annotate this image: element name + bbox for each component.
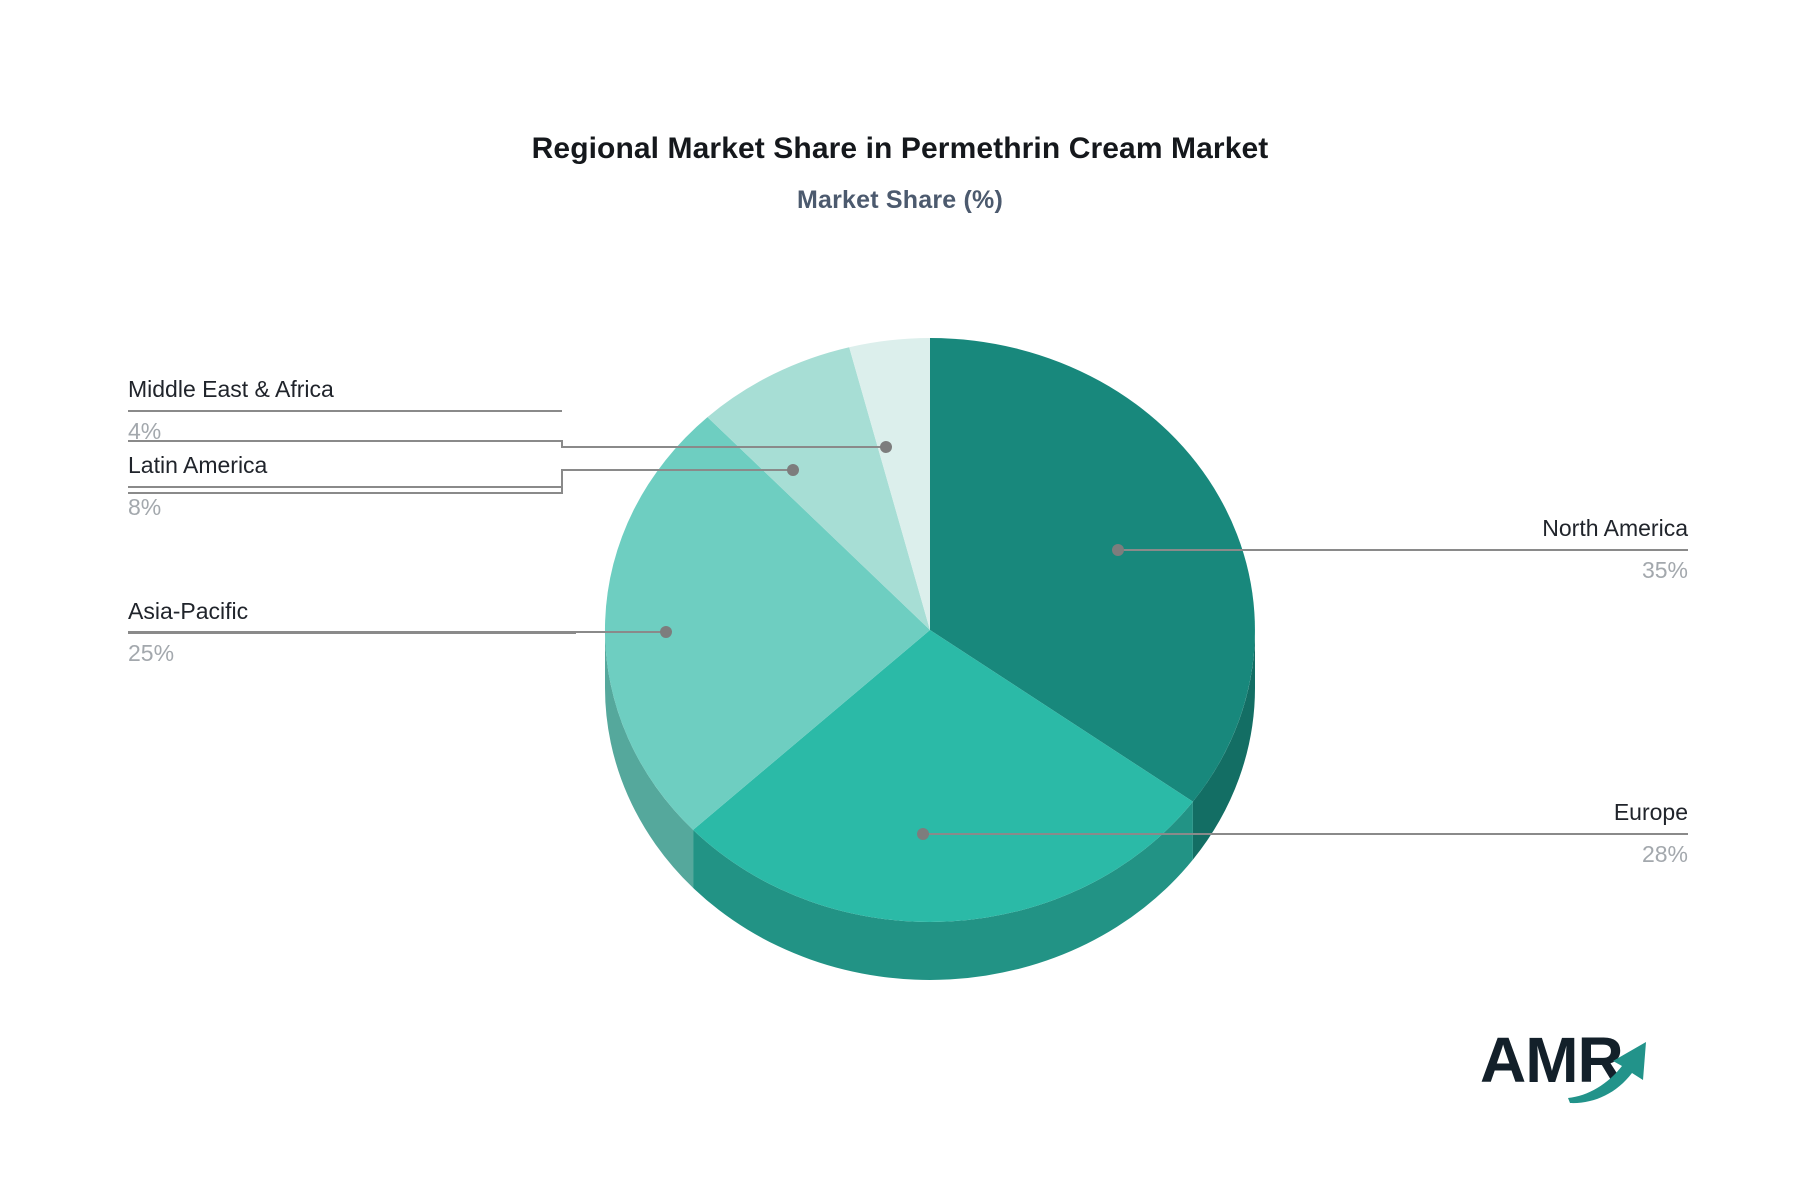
chart-canvas: Regional Market Share in Permethrin Crea…	[0, 0, 1800, 1196]
callout-north-america-label: North America	[1508, 515, 1688, 542]
dot-europe	[917, 828, 929, 840]
callout-latin-america[interactable]: Latin America 8%	[128, 452, 562, 521]
callout-middle-east-africa-label: Middle East & Africa	[128, 376, 562, 403]
dot-asia-pacific	[660, 626, 672, 638]
callout-asia-pacific-label: Asia-Pacific	[128, 598, 576, 625]
callout-asia-pacific-rule	[128, 632, 576, 634]
callout-europe[interactable]: Europe 28%	[1508, 799, 1688, 868]
callout-latin-america-value: 8%	[128, 494, 562, 521]
callout-north-america-value: 35%	[1508, 557, 1688, 584]
callout-middle-east-africa[interactable]: Middle East & Africa 4%	[128, 376, 562, 445]
dot-north-america	[1112, 544, 1124, 556]
amr-wordmark: AMR	[1480, 1024, 1623, 1096]
callout-asia-pacific[interactable]: Asia-Pacific 25%	[128, 598, 576, 667]
callout-europe-rule	[1508, 833, 1688, 835]
amr-logo[interactable]: AMR	[1480, 1020, 1670, 1106]
callout-asia-pacific-value: 25%	[128, 640, 576, 667]
dot-latin-america	[787, 464, 799, 476]
callout-latin-america-label: Latin America	[128, 452, 562, 479]
dot-middle-east-africa	[880, 441, 892, 453]
callout-middle-east-africa-rule	[128, 410, 562, 412]
callout-europe-value: 28%	[1508, 841, 1688, 868]
callout-europe-label: Europe	[1508, 799, 1688, 826]
callout-north-america-rule	[1508, 549, 1688, 551]
callout-latin-america-rule	[128, 486, 562, 488]
callout-north-america[interactable]: North America 35%	[1508, 515, 1688, 584]
callout-middle-east-africa-value: 4%	[128, 418, 562, 445]
